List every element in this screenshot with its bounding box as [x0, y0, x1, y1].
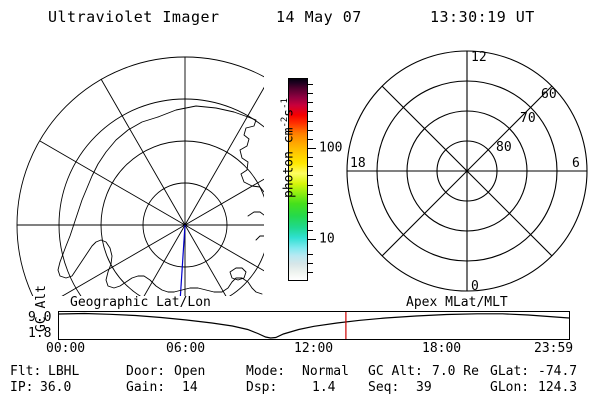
- status-field-label: IP:: [10, 380, 33, 396]
- status-field-value: 36.0: [40, 380, 71, 396]
- colorbar-minor-tick: [308, 272, 313, 273]
- mlt-polar-projection: 12 6 0 18 60 70 80: [336, 40, 592, 296]
- colorbar-major-tick: [308, 239, 316, 240]
- status-field-label: Dsp:: [246, 380, 277, 396]
- colorbar-minor-tick: [308, 263, 313, 264]
- colorbar-minor-tick: [308, 102, 313, 103]
- prime-meridian-line: [180, 225, 185, 296]
- strip-xtick-label: 18:00: [422, 342, 461, 355]
- strip-xtick-label: 23:59: [534, 342, 573, 355]
- instrument-title: Ultraviolet Imager: [48, 4, 220, 30]
- geographic-image-panel[interactable]: [8, 40, 264, 296]
- colorbar-title-mid: s: [281, 109, 296, 117]
- mlt-label-18: 18: [350, 156, 366, 171]
- colorbar-minor-tick: [308, 221, 313, 222]
- status-field-value: -74.7: [538, 364, 577, 380]
- status-field-value: 39: [416, 380, 432, 396]
- status-field-value: 7.0 Re: [432, 364, 479, 380]
- status-field-label: Mode:: [246, 364, 285, 380]
- strip-right-title: Apex MLat/MLT: [406, 296, 508, 309]
- antarctica-coastline: [58, 106, 264, 294]
- observation-time: 13:30:19 UT: [430, 4, 535, 30]
- colorbar-title-exp1: -2: [280, 117, 290, 128]
- mlt-label-6: 6: [572, 156, 580, 171]
- colorbar-title-main: photon cm: [281, 128, 296, 198]
- colorbar-minor-tick: [308, 254, 313, 255]
- mlat-label-80: 80: [496, 140, 512, 155]
- colorbar-minor-tick: [308, 230, 313, 231]
- colorbar-minor-tick: [308, 139, 313, 140]
- header-bar: Ultraviolet Imager 14 May 07 13:30:19 UT: [0, 4, 600, 30]
- status-field-value: Normal: [302, 364, 349, 380]
- geographic-meridian-grid: [17, 57, 264, 296]
- strip-xtick-label: 06:00: [166, 342, 205, 355]
- status-field-label: Flt:: [10, 364, 41, 380]
- status-field-label: GLat:: [490, 364, 529, 380]
- colorbar-minor-tick: [308, 84, 313, 85]
- altitude-curve: [59, 314, 569, 339]
- status-field-value: LBHL: [48, 364, 79, 380]
- status-field-label: Seq:: [368, 380, 399, 396]
- colorbar-major-tick: [308, 148, 316, 149]
- mlat-tick-labels: 60 70 80: [496, 87, 557, 155]
- strip-ytick-low: 1.8: [28, 327, 51, 340]
- strip-plot-area[interactable]: [58, 311, 570, 340]
- colorbar-minor-tick: [308, 111, 313, 112]
- colorbar-minor-tick: [308, 130, 313, 131]
- status-field-value: Open: [174, 364, 205, 380]
- colorbar-title-exp2: -1: [280, 98, 290, 109]
- uvi-quicklook-window: Ultraviolet Imager 14 May 07 13:30:19 UT: [0, 0, 600, 400]
- colorbar-minor-tick: [308, 194, 313, 195]
- mlt-label-12: 12: [471, 50, 487, 65]
- strip-plot-svg: [59, 312, 569, 339]
- strip-left-title: Geographic Lat/Lon: [70, 296, 211, 309]
- status-field-value: 124.3: [538, 380, 577, 396]
- mlt-label-0: 0: [471, 279, 479, 294]
- geographic-projection: [8, 40, 264, 296]
- colorbar-minor-tick: [308, 203, 313, 204]
- observation-date: 14 May 07: [276, 4, 362, 30]
- status-field-label: GLon:: [490, 380, 529, 396]
- colorbar-title: photon cm-2s-1: [258, 70, 276, 273]
- colorbar-minor-tick: [308, 212, 313, 213]
- colorbar-tick-label: 10: [319, 233, 335, 246]
- status-field-value: 14: [182, 380, 198, 396]
- status-field-label: Gain:: [126, 380, 165, 396]
- magnetic-local-time-panel[interactable]: 12 6 0 18 60 70 80: [336, 40, 592, 296]
- mlat-label-60: 60: [541, 87, 557, 102]
- status-field-value: 1.4: [312, 380, 335, 396]
- status-footer: Flt:LBHLDoor:OpenMode:NormalGC Alt:7.0 R…: [0, 364, 600, 398]
- strip-xtick-label: 12:00: [294, 342, 333, 355]
- status-field-label: Door:: [126, 364, 165, 380]
- colorbar-minor-tick: [308, 121, 313, 122]
- status-field-label: GC Alt:: [368, 364, 423, 380]
- status-row-secondary: IP:36.0Gain:14Dsp:1.4Seq:39GLon:124.3: [0, 380, 600, 396]
- strip-ytick-high: 9.0: [28, 311, 51, 324]
- geographic-latitude-grid: [17, 57, 264, 296]
- status-row-primary: Flt:LBHLDoor:OpenMode:NormalGC Alt:7.0 R…: [0, 364, 600, 380]
- mlat-label-70: 70: [520, 111, 536, 126]
- colorbar-minor-tick: [308, 93, 313, 94]
- intensity-colorbar: 10010 photon cm-2s-1: [262, 70, 336, 290]
- strip-xtick-label: 00:00: [46, 342, 85, 355]
- orbit-altitude-strip[interactable]: GC Alt 9.0 1.8 Geographic Lat/Lon Apex M…: [0, 296, 600, 358]
